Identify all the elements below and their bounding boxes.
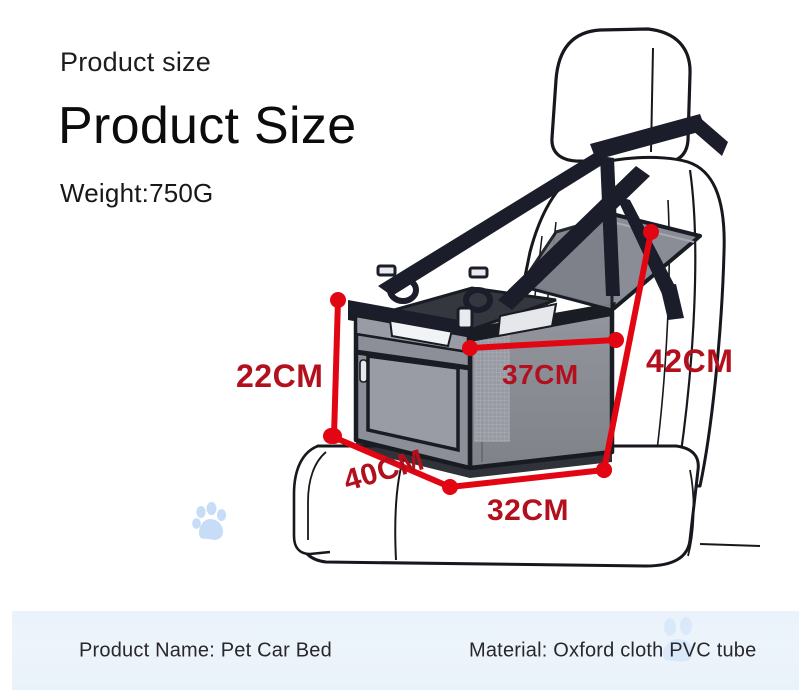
footer-product-name: Product Name: Pet Car Bed [79, 639, 332, 662]
dim-dot [608, 332, 624, 348]
dimension-label-22cm: 22CM [236, 358, 323, 395]
dim-dot [462, 340, 478, 356]
footer-bar: Product Name: Pet Car Bed Material: Oxfo… [12, 611, 799, 690]
strap-buckle [458, 308, 472, 328]
dimension-label-32cm: 32CM [487, 494, 569, 528]
product-size-infographic: Product size Product Size Weight:750G [0, 0, 811, 697]
dimension-label-42cm: 42CM [646, 343, 733, 380]
dim-dot [330, 292, 346, 308]
dim-dot [323, 428, 339, 444]
footer-material: Material: Oxford cloth PVC tube [469, 639, 756, 662]
dimension-label-37cm: 37CM [502, 359, 579, 391]
dim-dot [596, 462, 612, 478]
product-diagram [0, 0, 811, 620]
paw-print-watermark-icon [190, 502, 230, 546]
dim-line-22 [334, 300, 338, 436]
dim-dot [643, 224, 659, 240]
